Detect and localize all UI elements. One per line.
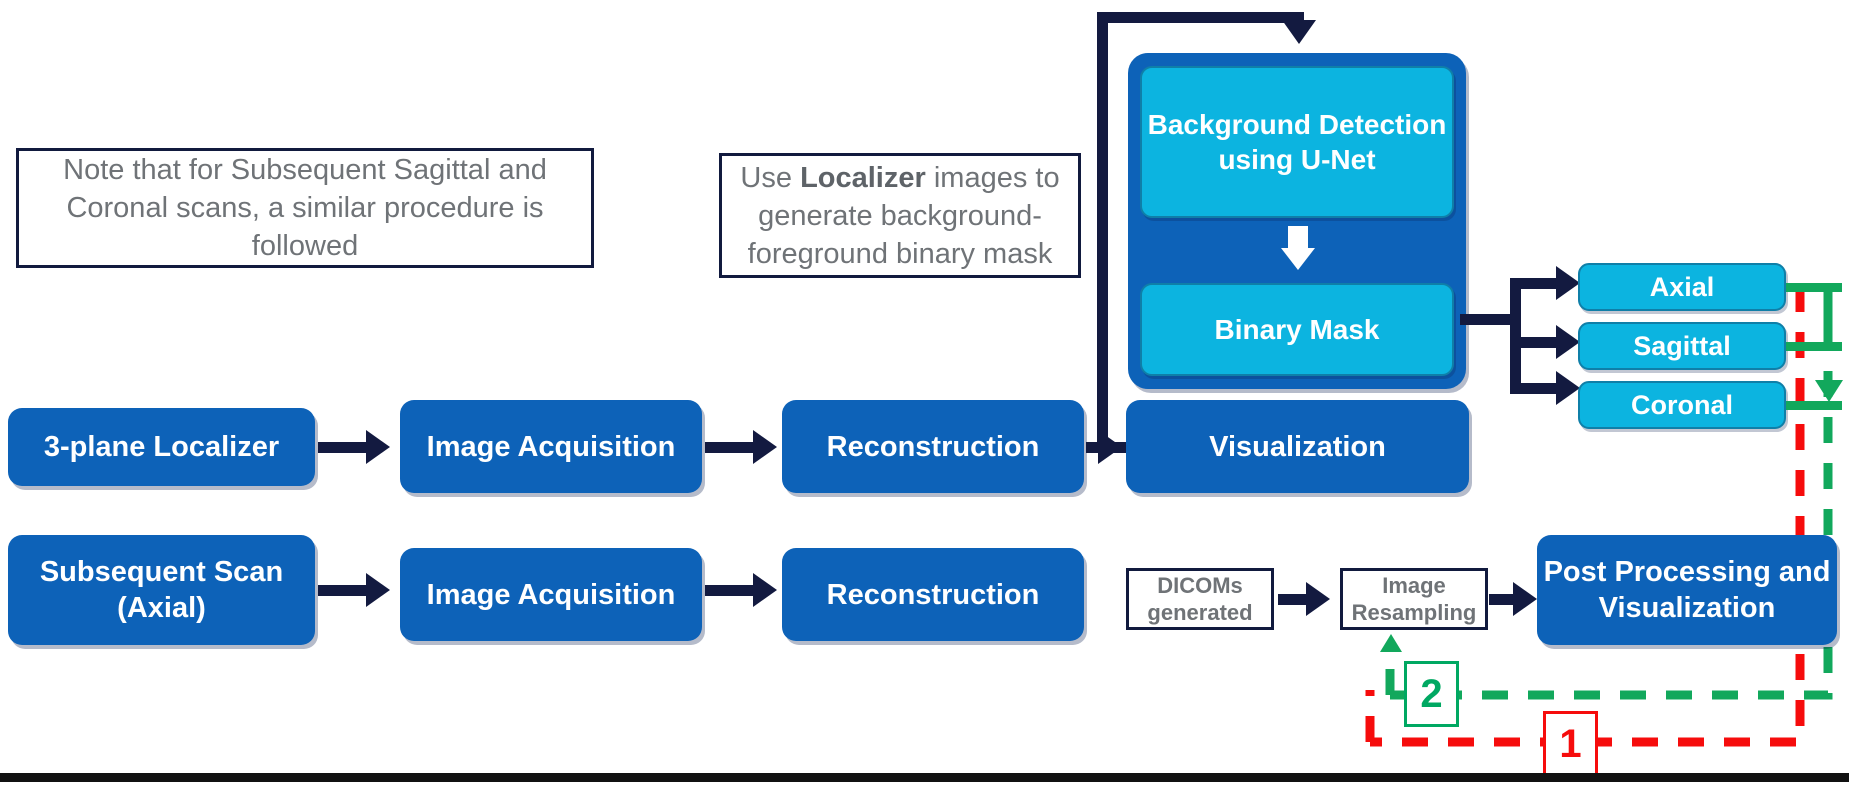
fanout-vertical	[1510, 278, 1521, 394]
badge-1-label: 1	[1559, 722, 1581, 767]
plane-box-coronal[interactable]: Coronal	[1578, 381, 1786, 429]
navy-arrowhead-bottom-3	[1306, 582, 1330, 616]
flow-box-top-reconstruction[interactable]: Reconstruction	[782, 400, 1084, 493]
flow-label-top-image-acquisition: Image Acquisition	[427, 429, 676, 465]
green-junction-sagittal	[1812, 342, 1842, 351]
flow-box-post-processing[interactable]: Post Processing and Visualization	[1537, 535, 1837, 645]
flow-box-bottom-image-acquisition[interactable]: Image Acquisition	[400, 548, 702, 641]
flow-box-subsequent-scan[interactable]: Subsequent Scan (Axial)	[8, 535, 315, 645]
flow-box-visualization[interactable]: Visualization	[1126, 400, 1469, 493]
note-localizer-bold: Localizer	[800, 162, 926, 194]
navy-connector-top-1	[318, 442, 370, 453]
green-junction-coronal	[1812, 401, 1842, 410]
badge-2[interactable]: 2	[1404, 661, 1459, 727]
navy-connector-bottom-1	[318, 585, 370, 596]
footer-divider	[0, 773, 1849, 782]
navy-riser-vertical	[1097, 12, 1108, 445]
note-localizer-text: Use Localizer images to generate backgro…	[730, 159, 1070, 273]
flow-box-image-resampling[interactable]: Image Resampling	[1340, 568, 1488, 630]
flow-label-bottom-reconstruction: Reconstruction	[827, 577, 1040, 613]
background-detection-box[interactable]: Background Detection using U-Net	[1140, 66, 1454, 218]
plane-label-coronal: Coronal	[1631, 388, 1733, 423]
flow-box-bottom-reconstruction[interactable]: Reconstruction	[782, 548, 1084, 641]
navy-arrowhead-bottom-2	[753, 573, 777, 607]
badge-2-label: 2	[1420, 672, 1442, 717]
flow-box-top-image-acquisition[interactable]: Image Acquisition	[400, 400, 702, 493]
flow-label-top-reconstruction: Reconstruction	[827, 429, 1040, 465]
note-subsequent-text: Note that for Subsequent Sagittal and Co…	[27, 151, 583, 265]
plane-label-sagittal: Sagittal	[1633, 329, 1731, 364]
binary-mask-label: Binary Mask	[1215, 312, 1380, 347]
binary-mask-box[interactable]: Binary Mask	[1140, 283, 1454, 376]
flow-label-bottom-image-acquisition: Image Acquisition	[427, 577, 676, 613]
flow-box-3-plane-localizer[interactable]: 3-plane Localizer	[8, 408, 315, 486]
diagram-canvas: Note that for Subsequent Sagittal and Co…	[0, 0, 1849, 786]
flow-label-image-resampling: Image Resampling	[1343, 572, 1485, 626]
flow-label-subsequent-scan: Subsequent Scan (Axial)	[14, 554, 309, 626]
fanout-arrow-axial	[1556, 266, 1580, 300]
fanout-branch-axial	[1510, 278, 1560, 289]
navy-arrow-into-unet	[1282, 20, 1316, 44]
fanout-arrow-coronal	[1556, 371, 1580, 405]
flow-label-visualization: Visualization	[1209, 429, 1386, 465]
fanout-stem	[1460, 314, 1515, 325]
green-junction-top	[1812, 283, 1842, 292]
navy-arrowhead-top-1	[366, 430, 390, 464]
plane-box-sagittal[interactable]: Sagittal	[1578, 322, 1786, 370]
background-detection-label: Background Detection using U-Net	[1146, 107, 1448, 177]
note-localizer: Use Localizer images to generate backgro…	[719, 153, 1081, 278]
flow-label-3-plane-localizer: 3-plane Localizer	[44, 429, 279, 465]
flow-label-dicoms-generated: DICOMs generated	[1129, 572, 1271, 626]
navy-arrowhead-top-2	[753, 430, 777, 464]
plane-box-axial[interactable]: Axial	[1578, 263, 1786, 311]
navy-connector-bottom-2	[705, 585, 757, 596]
note-localizer-pre: Use	[740, 162, 800, 194]
green-arrow-into-resampling	[1380, 634, 1402, 652]
navy-arrowhead-bottom-1	[366, 573, 390, 607]
navy-riser-top-horizontal	[1097, 12, 1304, 23]
fanout-branch-coronal	[1510, 383, 1560, 394]
green-arrow-into-planes	[1815, 380, 1843, 402]
note-subsequent-scans: Note that for Subsequent Sagittal and Co…	[16, 148, 594, 268]
white-arrow-head	[1281, 248, 1315, 270]
navy-arrowhead-bottom-4	[1513, 582, 1537, 616]
flow-box-dicoms-generated[interactable]: DICOMs generated	[1126, 568, 1274, 630]
navy-arrowhead-top-3	[1098, 430, 1122, 464]
navy-connector-top-2	[705, 442, 757, 453]
fanout-branch-sagittal	[1510, 337, 1560, 348]
flow-label-post-processing: Post Processing and Visualization	[1543, 554, 1831, 626]
fanout-arrow-sagittal	[1556, 325, 1580, 359]
plane-label-axial: Axial	[1650, 270, 1715, 305]
badge-1[interactable]: 1	[1543, 711, 1598, 777]
